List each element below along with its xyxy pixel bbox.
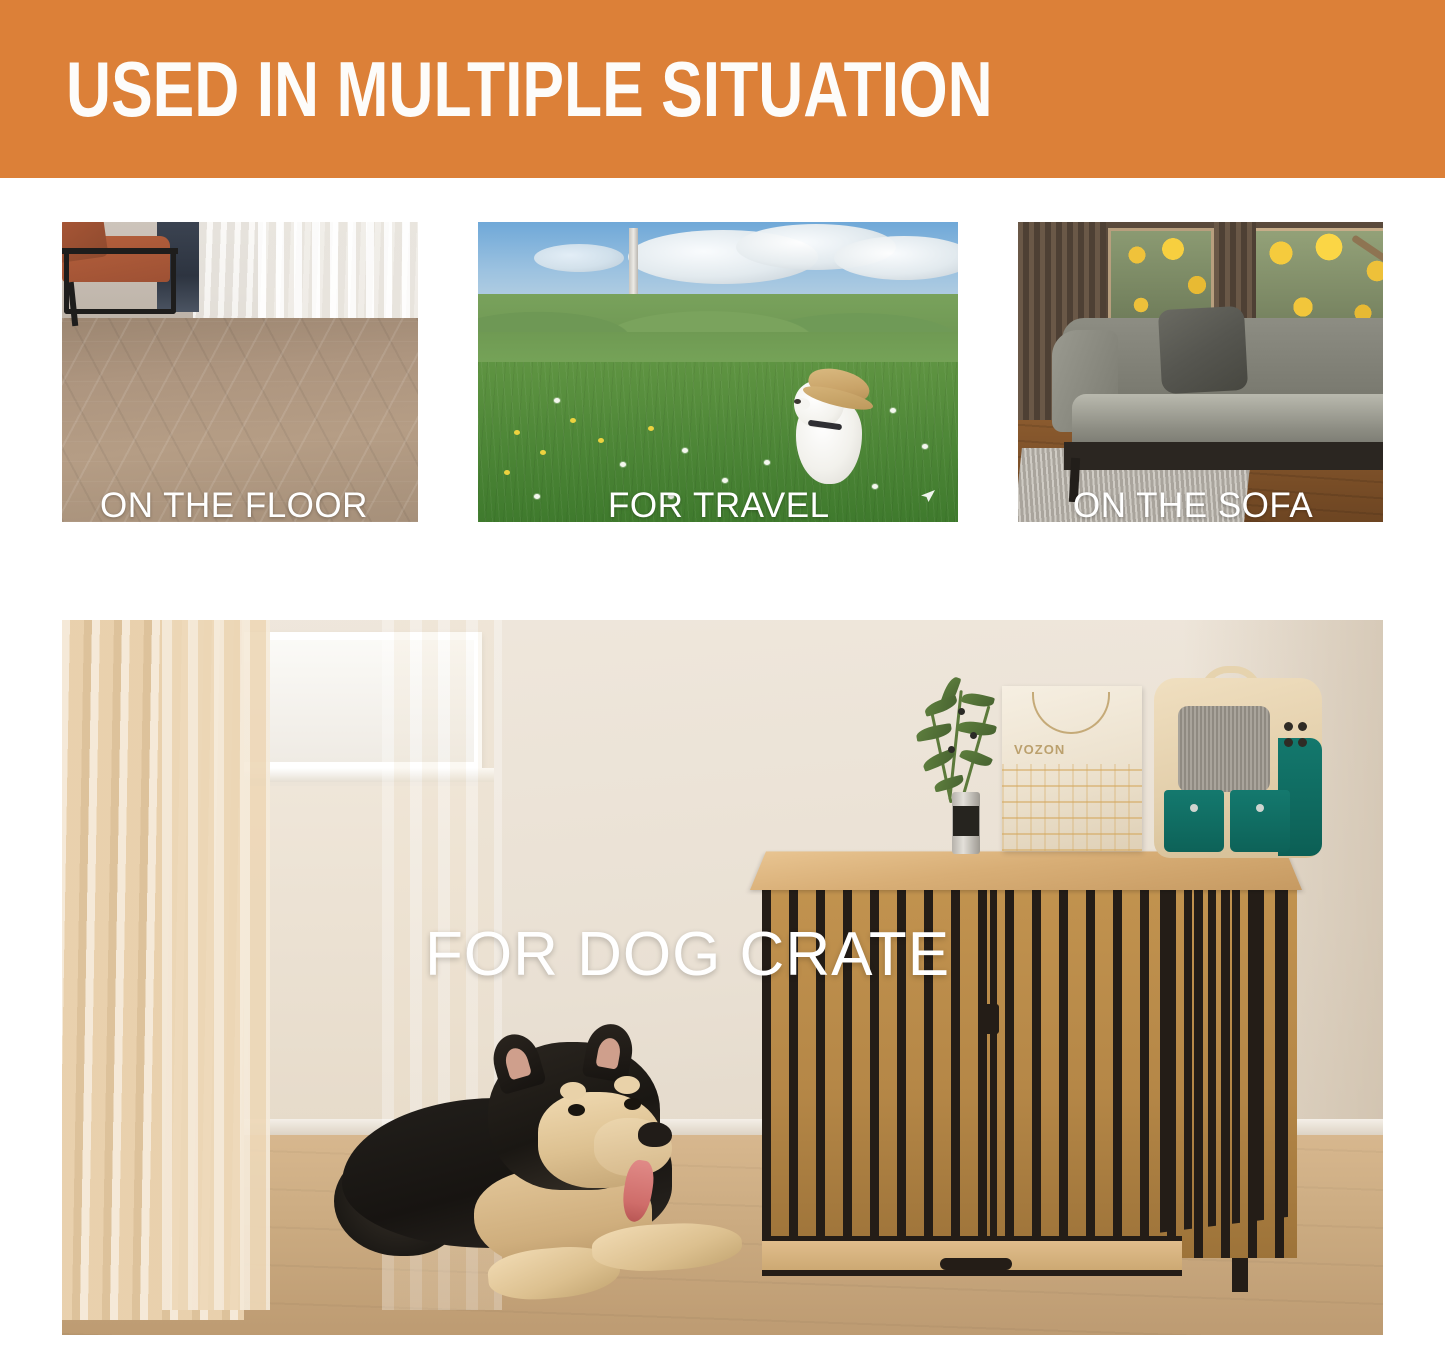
- beige-curtain-inner: [162, 620, 270, 1310]
- grassland-image: [478, 222, 958, 522]
- crate-bottom-rail: [762, 1236, 1182, 1276]
- card-label-travel: FOR TRAVEL: [608, 486, 830, 522]
- sofa-base: [1064, 442, 1383, 470]
- dog-ear-inner: [595, 1036, 622, 1069]
- pet-carrier-backpack: [1154, 678, 1322, 858]
- carrier-pocket-left: [1164, 790, 1224, 852]
- crate-door-frame: [990, 876, 997, 1256]
- carrier-mesh-panel: [1178, 706, 1270, 792]
- plant-leaf: [957, 718, 997, 739]
- flower: [620, 462, 626, 467]
- cloud: [534, 244, 624, 272]
- shopping-bag: VOZON: [1002, 686, 1142, 851]
- armchair-frame: [64, 252, 176, 314]
- carrier-pocket-right: [1230, 790, 1290, 852]
- plant-berry: [948, 746, 955, 753]
- vase-label: [953, 806, 979, 836]
- flower: [554, 398, 560, 403]
- dog-ear-inner: [503, 1046, 532, 1081]
- dog-crate-furniture: [762, 838, 1297, 1278]
- carrier-vent-hole: [1284, 738, 1293, 747]
- flower: [504, 470, 510, 475]
- situation-card-floor[interactable]: ON THE FLOOR: [62, 222, 418, 522]
- header-banner: USED IN MULTIPLE SITUATION: [0, 0, 1445, 178]
- dog-eye-right: [624, 1098, 641, 1110]
- flower: [514, 430, 520, 435]
- flower: [922, 444, 928, 449]
- bag-handle: [1032, 692, 1110, 734]
- hero-dog-crate-image[interactable]: VOZON: [62, 620, 1383, 1335]
- flower: [570, 418, 576, 423]
- flower: [534, 494, 540, 499]
- flower: [872, 484, 878, 489]
- carrier-vent-hole: [1298, 722, 1307, 731]
- card-label-sofa: ON THE SOFA: [1073, 486, 1313, 522]
- bag-brand-text: VOZON: [1014, 742, 1065, 757]
- carrier-vent-hole: [1284, 722, 1293, 731]
- dog-brow-left: [560, 1082, 586, 1100]
- situation-card-travel[interactable]: FOR TRAVEL: [478, 222, 958, 522]
- dog-eye-left: [568, 1104, 585, 1116]
- plant-berry: [958, 708, 965, 715]
- page-title: USED IN MULTIPLE SITUATION: [66, 48, 993, 130]
- situation-card-row: ON THE FLOOR: [0, 222, 1445, 524]
- sheer-curtain-overlay: [258, 222, 418, 326]
- flower: [540, 450, 546, 455]
- pole: [629, 228, 638, 300]
- plant-berry: [970, 732, 977, 739]
- metal-tin-vase: [952, 792, 980, 854]
- dog-ear-right: [581, 1020, 636, 1083]
- situation-card-sofa[interactable]: ON THE SOFA: [1018, 222, 1383, 522]
- flower: [598, 438, 604, 443]
- carrier-pockets: [1164, 790, 1292, 852]
- dog-brow-right: [614, 1076, 640, 1094]
- crate-handle[interactable]: [940, 1258, 1012, 1270]
- plant-leaf: [915, 723, 953, 742]
- floor-room-image: [62, 222, 418, 522]
- hero-caption: FOR DOG CRATE: [425, 920, 950, 990]
- card-label-floor: ON THE FLOOR: [100, 486, 368, 522]
- crate-latch[interactable]: [984, 1004, 999, 1034]
- flower: [890, 408, 896, 413]
- sofa-room-image: [1018, 222, 1383, 522]
- send-icon[interactable]: [920, 488, 936, 504]
- sofa-pillow: [1158, 306, 1248, 394]
- malamute-dog: [342, 1020, 812, 1320]
- bag-pattern: [1002, 764, 1142, 851]
- dog-nose: [638, 1122, 672, 1147]
- flower: [722, 478, 728, 483]
- crate-foot: [1232, 1258, 1248, 1292]
- carrier-vent-hole: [1298, 738, 1307, 747]
- flower: [648, 426, 654, 431]
- flower: [682, 448, 688, 453]
- dog-nose: [794, 399, 801, 404]
- flower: [764, 460, 770, 465]
